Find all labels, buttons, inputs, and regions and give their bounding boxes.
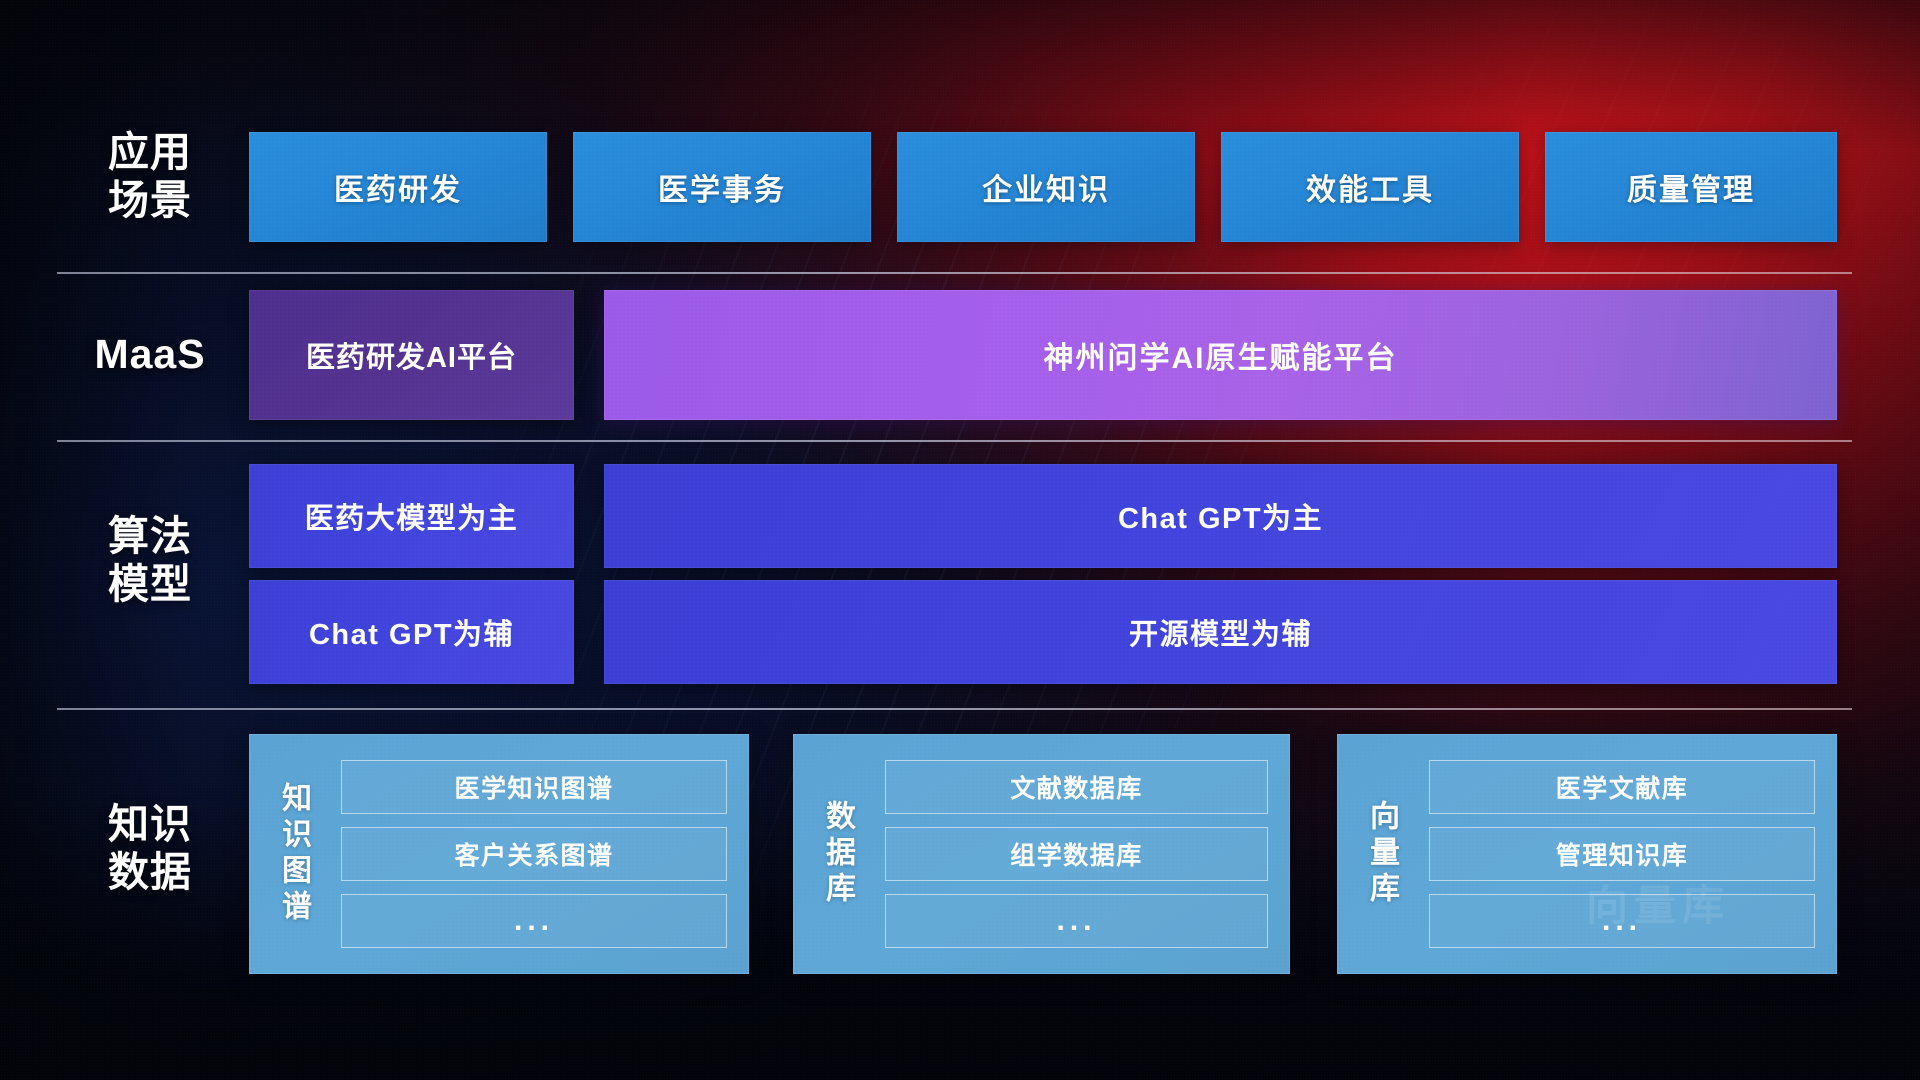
knowledge-group-items-2: 文献数据库 组学数据库 ... [881, 734, 1290, 974]
knowledge-item-2-3[interactable]: ... [885, 894, 1268, 948]
maas-card-shenzhou-wenxue-platform[interactable]: 神州问学AI原生赋能平台 [604, 290, 1837, 420]
diagram-canvas: 应用 场景 医药研发 医学事务 企业知识 效能工具 质量管理 MaaS 医药研发… [0, 0, 1920, 1080]
maas-card-pharma-ai-platform[interactable]: 医药研发AI平台 [249, 290, 574, 420]
knowledge-item-1-1[interactable]: 医学知识图谱 [341, 760, 727, 814]
algorithm-label-left-2: Chat GPT为辅 [309, 611, 514, 653]
knowledge-group-database: 数据库 文献数据库 组学数据库 ... [793, 734, 1290, 974]
app-scenario-card-2[interactable]: 医学事务 [573, 132, 871, 242]
maas-right-label: 神州问学AI原生赋能平台 [1044, 333, 1398, 377]
app-scenario-label-2: 医学事务 [658, 165, 786, 209]
algorithm-card-right-2[interactable]: 开源模型为辅 [604, 580, 1837, 684]
algorithm-label-right-1: Chat GPT为主 [1118, 495, 1323, 537]
knowledge-item-3-2[interactable]: 管理知识库 [1429, 827, 1815, 881]
algorithm-card-left-2[interactable]: Chat GPT为辅 [249, 580, 574, 684]
algorithm-label-right-2: 开源模型为辅 [1129, 611, 1312, 653]
row-label-application: 应用 场景 [55, 128, 245, 225]
app-scenario-label-5: 质量管理 [1627, 165, 1755, 209]
algorithm-label-left-1: 医药大模型为主 [305, 495, 519, 537]
knowledge-group-knowledge-graph: 知识图谱 医学知识图谱 客户关系图谱 ... [249, 734, 749, 974]
divider-algorithm-knowledge [57, 708, 1852, 710]
app-scenario-label-3: 企业知识 [982, 165, 1110, 209]
app-scenario-card-5[interactable]: 质量管理 [1545, 132, 1837, 242]
row-label-application-line2: 场景 [55, 176, 245, 224]
row-label-knowledge-line1: 知识 [55, 800, 245, 848]
knowledge-item-3-1[interactable]: 医学文献库 [1429, 760, 1815, 814]
row-label-algorithm-line2: 模型 [55, 560, 245, 608]
knowledge-item-1-2[interactable]: 客户关系图谱 [341, 827, 727, 881]
app-scenario-label-4: 效能工具 [1306, 165, 1434, 209]
row-label-knowledge-line2: 数据 [55, 848, 245, 896]
row-label-algorithm: 算法 模型 [55, 512, 245, 609]
knowledge-group-vector-store: 向量库 医学文献库 管理知识库 ... [1337, 734, 1837, 974]
app-scenario-card-3[interactable]: 企业知识 [897, 132, 1195, 242]
knowledge-group-title-1: 知识图谱 [249, 734, 337, 974]
algorithm-card-right-1[interactable]: Chat GPT为主 [604, 464, 1837, 568]
app-scenario-card-1[interactable]: 医药研发 [249, 132, 547, 242]
knowledge-group-title-2: 数据库 [793, 734, 881, 974]
divider-maas-algorithm [57, 440, 1852, 442]
row-label-application-line1: 应用 [55, 128, 245, 176]
row-label-algorithm-line1: 算法 [55, 512, 245, 560]
algorithm-card-left-1[interactable]: 医药大模型为主 [249, 464, 574, 568]
maas-left-label: 医药研发AI平台 [306, 334, 517, 376]
knowledge-item-2-2[interactable]: 组学数据库 [885, 827, 1268, 881]
divider-application-maas [57, 272, 1852, 274]
knowledge-group-items-1: 医学知识图谱 客户关系图谱 ... [337, 734, 749, 974]
app-scenario-card-4[interactable]: 效能工具 [1221, 132, 1519, 242]
row-label-knowledge: 知识 数据 [55, 800, 245, 897]
knowledge-item-2-1[interactable]: 文献数据库 [885, 760, 1268, 814]
knowledge-group-items-3: 医学文献库 管理知识库 ... [1425, 734, 1837, 974]
knowledge-group-title-3: 向量库 [1337, 734, 1425, 974]
knowledge-item-1-3[interactable]: ... [341, 894, 727, 948]
knowledge-item-3-3[interactable]: ... [1429, 894, 1815, 948]
row-label-maas: MaaS [55, 330, 245, 378]
app-scenario-label-1: 医药研发 [334, 165, 462, 209]
